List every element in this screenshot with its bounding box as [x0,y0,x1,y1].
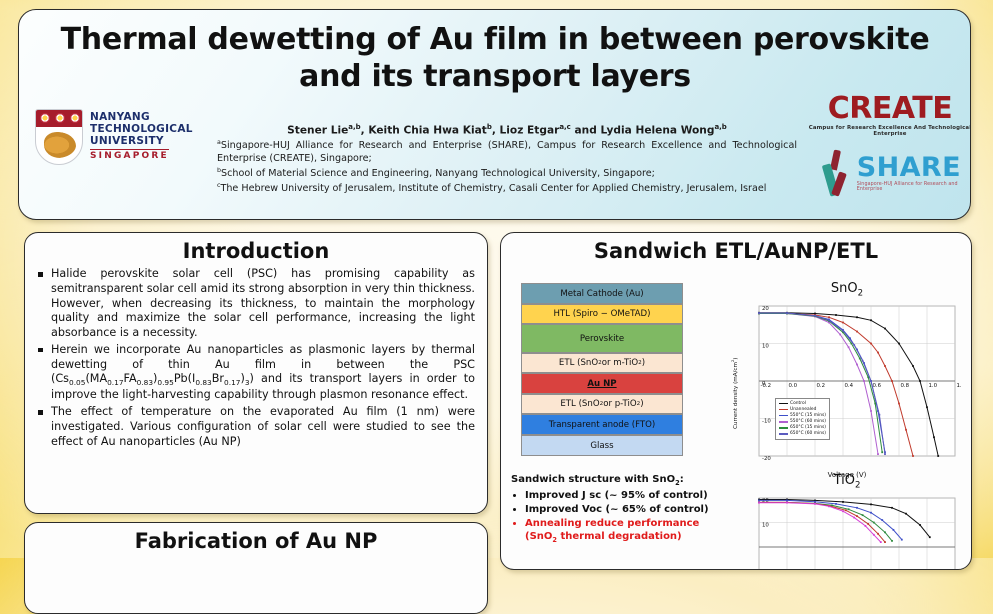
authors-block: Stener Liea,b, Keith Chia Hwa Kiatb, Lio… [217,123,797,196]
create-logo: CREATE Campus for Research Excellence An… [797,94,971,137]
share-mark-icon [819,150,853,196]
findings-header: Sandwich structure with SnO2: [511,473,733,488]
stack-layer: Glass [521,435,683,456]
svg-text:1.0: 1.0 [929,383,938,389]
list-item: Herein we incorporate Au nanoparticles a… [51,343,475,403]
ntu-crest-icon [35,109,83,165]
introduction-bullet-list: Halide perovskite solar cell (PSC) has p… [25,267,487,450]
stack-layer: Au NP [521,373,683,394]
svg-text:0.6: 0.6 [873,383,882,389]
introduction-panel: Introduction Halide perovskite solar cel… [24,232,488,514]
chart-sno2-plot: -0.20.00.20.40.60.81.01.220100-10-20Curr… [733,300,961,472]
svg-text:10: 10 [762,343,769,349]
list-item: The effect of temperature on the evapora… [51,405,475,449]
svg-text:-10: -10 [762,418,771,424]
svg-text:0.4: 0.4 [845,383,854,389]
create-tagline: Campus for Research Excellence And Techn… [797,125,971,137]
affiliation-b: bSchool of Material Science and Engineer… [217,167,797,181]
svg-text:1.2: 1.2 [957,383,962,389]
introduction-title: Introduction [25,239,487,263]
legend-entry: 650°C (60 mins) [779,431,826,437]
svg-text:0.0: 0.0 [789,383,798,389]
ntu-name-line1: NANYANG [90,112,193,124]
sandwich-findings: Sandwich structure with SnO2: Improved J… [511,473,733,545]
svg-text:0: 0 [762,381,766,387]
svg-text:20: 20 [762,306,769,312]
chart-ylabel: Current density (mA/cm2) [731,357,739,429]
stack-layer: Metal Cathode (Au) [521,283,683,304]
share-tagline: Singapore-HUJ Alliance for Research and … [857,182,971,192]
chart-sno2: SnO2 -0.20.00.20.40.60.81.01.220100-10-2… [733,281,961,473]
affiliation-a: aSingapore-HUJ Alliance for Research and… [217,139,797,166]
create-wordmark: CREATE [797,94,971,124]
sandwich-title: Sandwich ETL/AuNP/ETL [501,239,971,263]
fabrication-panel: Fabrication of Au NP [24,522,488,614]
chart-tio2: TiO2 2010 [733,473,961,570]
list-item: Annealing reduce performance (SnO2 therm… [525,517,733,545]
svg-text:-20: -20 [762,456,771,462]
list-item: Halide perovskite solar cell (PSC) has p… [51,267,475,341]
stack-layer: HTL (Spiro − OMeTAD) [521,304,683,324]
stack-layer: Transparent anode (FTO) [521,414,683,435]
chart-sno2-title: SnO2 [733,281,961,299]
stack-layer: Perovskite [521,324,683,353]
list-item: Improved J sc (~ 95% of control) [525,489,733,502]
ntu-name-line2: TECHNOLOGICAL [90,124,193,136]
stack-layer: ETL (SnO2 or p-TiO2) [521,394,683,414]
ntu-name-line3: UNIVERSITY [90,136,193,148]
list-item: Improved Voc (~ 65% of control) [525,503,733,516]
ntu-logo: NANYANG TECHNOLOGICAL UNIVERSITY SINGAPO… [35,102,220,172]
device-stack-diagram: Metal Cathode (Au)HTL (Spiro − OMeTAD)Pe… [521,283,683,456]
page-title: Thermal dewetting of Au film in between … [45,22,945,95]
share-logo: SHARE Singapore-HUJ Alliance for Researc… [819,150,971,196]
chart-tio2-title: TiO2 [733,473,961,491]
svg-text:10: 10 [762,522,769,528]
ntu-name-line4: SINGAPORE [90,149,169,162]
svg-text:0.8: 0.8 [901,383,910,389]
affiliation-c: cThe Hebrew University of Jerusalem, Ins… [217,182,797,196]
sandwich-panel: Sandwich ETL/AuNP/ETL Metal Cathode (Au)… [500,232,972,570]
chart-legend: ControlUnannealed550°C (15 mins)550°C (6… [775,398,830,440]
author-list: Stener Liea,b, Keith Chia Hwa Kiatb, Lio… [217,123,797,138]
share-wordmark: SHARE [857,154,971,181]
svg-text:0.2: 0.2 [817,383,826,389]
poster-header: Thermal dewetting of Au film in between … [18,9,971,220]
fabrication-title: Fabrication of Au NP [25,529,487,553]
findings-list: Improved J sc (~ 95% of control)Improved… [511,489,733,545]
stack-layer: ETL (SnO2 or m-TiO2) [521,353,683,373]
chart-tio2-plot: 2010 [733,492,961,570]
